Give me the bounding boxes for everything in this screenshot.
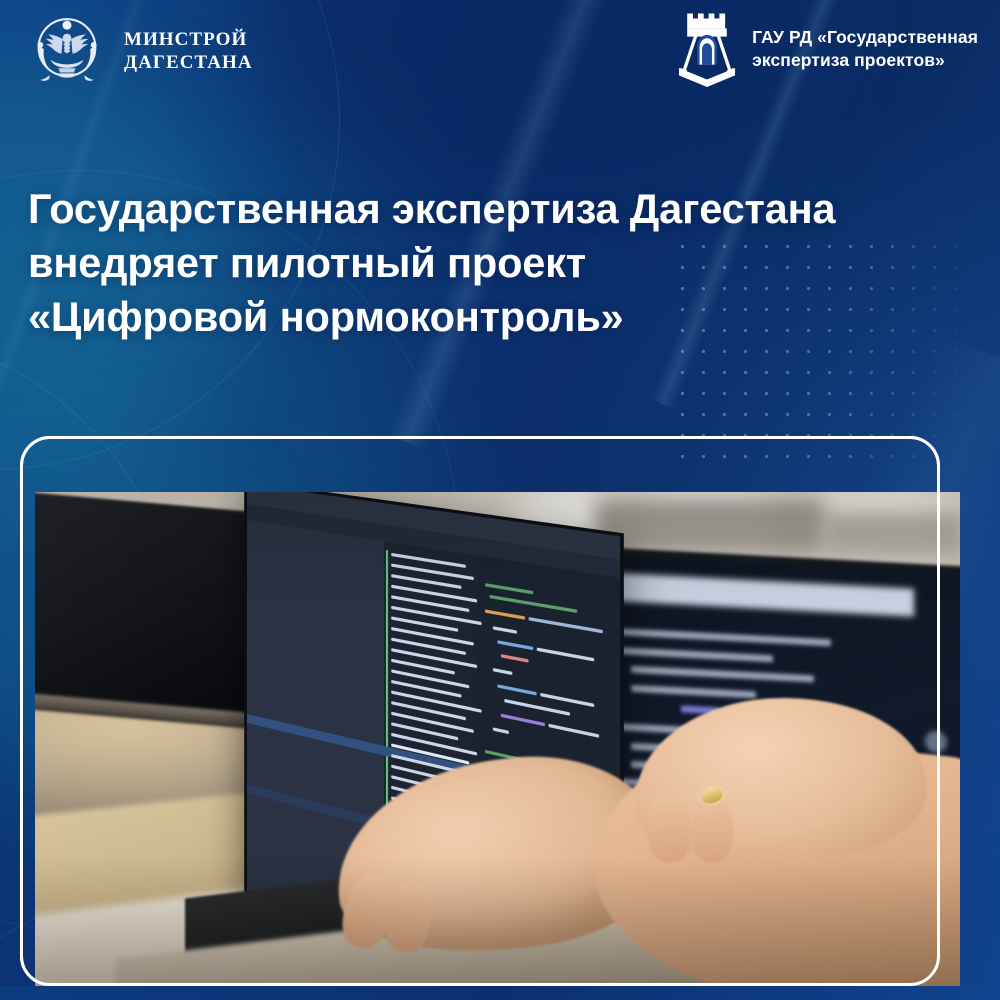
gau-rd-logo-text: ГАУ РД «Государственная экспертиза проек… [752,26,978,72]
page-title: Государственная экспертиза Дагестана вне… [28,182,968,344]
gau-rd-logo-line2: экспертиза проектов» [752,49,978,72]
headline-line-2: внедряет пилотный проект [28,236,968,290]
dagestan-coat-of-arms-icon [24,8,110,94]
poster-root: МИНСТРОЙ ДАГЕСТАНА [0,0,1000,1000]
bottom-band [0,986,1000,1000]
hero-photo [35,492,960,1000]
monitor-highlight [591,572,914,617]
minstroy-dagestana-logo: МИНСТРОЙ ДАГЕСТАНА [24,8,253,94]
minstroy-logo-line2: ДАГЕСТАНА [124,51,253,74]
photo-shelf-1 [595,500,825,554]
headline-line-3: «Цифровой нормоконтроль» [28,290,968,344]
minstroy-logo-line1: МИНСТРОЙ [124,28,253,51]
gau-rd-fortress-icon [674,10,740,88]
hero-photo-content [35,492,960,1000]
minstroy-logo-text: МИНСТРОЙ ДАГЕСТАНА [124,28,253,74]
header: МИНСТРОЙ ДАГЕСТАНА [0,0,1000,104]
monitor-brand-logo [925,730,947,753]
headline-line-1: Государственная экспертиза Дагестана [28,182,968,236]
photo-left-laptop [35,492,255,727]
gau-rd-logo-line1: ГАУ РД «Государственная [752,26,978,49]
gau-rd-logo: ГАУ РД «Государственная экспертиза проек… [674,10,978,88]
